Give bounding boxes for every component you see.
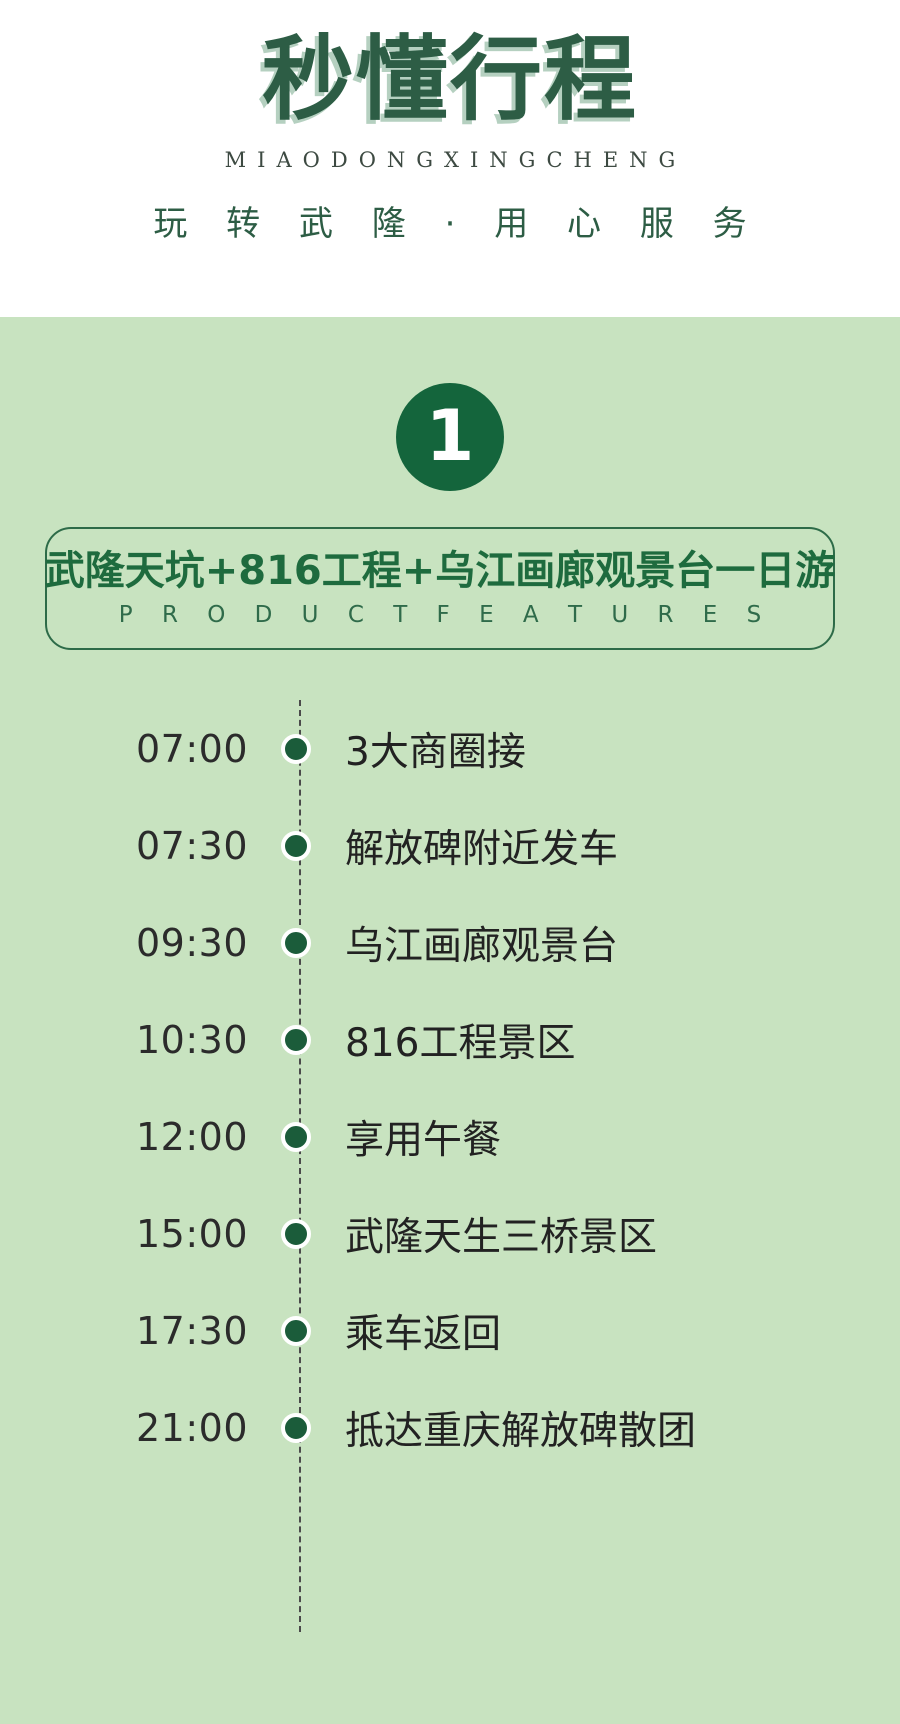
timeline-label: 抵达重庆解放碑散团 (345, 1400, 696, 1456)
timeline-time: 12:00 (0, 1115, 248, 1159)
timeline-time: 07:00 (0, 727, 248, 771)
timeline-dot-icon (281, 1122, 311, 1152)
timeline-time: 07:30 (0, 824, 248, 868)
timeline-row: 21:00抵达重庆解放碑散团 (0, 1379, 900, 1476)
brand-slogan: 玩 转 武 隆 · 用 心 服 务 (139, 196, 760, 245)
timeline-label: 3大商圈接 (345, 721, 526, 777)
brand-title: 秒懂行程 (262, 34, 638, 126)
timeline-dot-icon (281, 1219, 311, 1249)
timeline-row: 07:30解放碑附近发车 (0, 797, 900, 894)
timeline-time: 15:00 (0, 1212, 248, 1256)
timeline-dot-icon (281, 1413, 311, 1443)
timeline-dot-icon (281, 831, 311, 861)
timeline-row: 12:00享用午餐 (0, 1088, 900, 1185)
timeline-label: 享用午餐 (345, 1109, 501, 1165)
brand-pinyin: MIAODONGXINGCHENG (214, 148, 687, 172)
timeline-time: 17:30 (0, 1309, 248, 1353)
timeline-label: 816工程景区 (345, 1012, 575, 1068)
product-subtitle: P R O D U C T F E A T U R E S (108, 602, 772, 628)
itinerary-timeline: 07:003大商圈接07:30解放碑附近发车09:30乌江画廊观景台10:308… (0, 700, 900, 1476)
timeline-dot-icon (281, 734, 311, 764)
timeline-dot-icon (281, 928, 311, 958)
page-header: 秒懂行程 MIAODONGXINGCHENG 玩 转 武 隆 · 用 心 服 务 (0, 0, 900, 317)
timeline-row: 09:30乌江画廊观景台 (0, 894, 900, 991)
section-number-label: 1 (426, 401, 475, 471)
timeline-label: 武隆天生三桥景区 (345, 1206, 657, 1262)
timeline-label: 乘车返回 (345, 1303, 501, 1359)
timeline-rows: 07:003大商圈接07:30解放碑附近发车09:30乌江画廊观景台10:308… (0, 700, 900, 1476)
product-title: 武隆天坑+816工程+乌江画廊观景台一日游 (45, 549, 836, 593)
timeline-dot-icon (281, 1025, 311, 1055)
timeline-time: 09:30 (0, 921, 248, 965)
timeline-row: 07:003大商圈接 (0, 700, 900, 797)
timeline-dot-icon (281, 1316, 311, 1346)
section-number-badge: 1 (396, 383, 504, 491)
timeline-row: 15:00武隆天生三桥景区 (0, 1185, 900, 1282)
timeline-time: 21:00 (0, 1406, 248, 1450)
timeline-time: 10:30 (0, 1018, 248, 1062)
timeline-label: 解放碑附近发车 (345, 818, 618, 874)
timeline-row: 10:30816工程景区 (0, 991, 900, 1088)
timeline-label: 乌江画廊观景台 (345, 915, 618, 971)
timeline-row: 17:30乘车返回 (0, 1282, 900, 1379)
product-title-box: 武隆天坑+816工程+乌江画廊观景台一日游 P R O D U C T F E … (45, 527, 835, 650)
